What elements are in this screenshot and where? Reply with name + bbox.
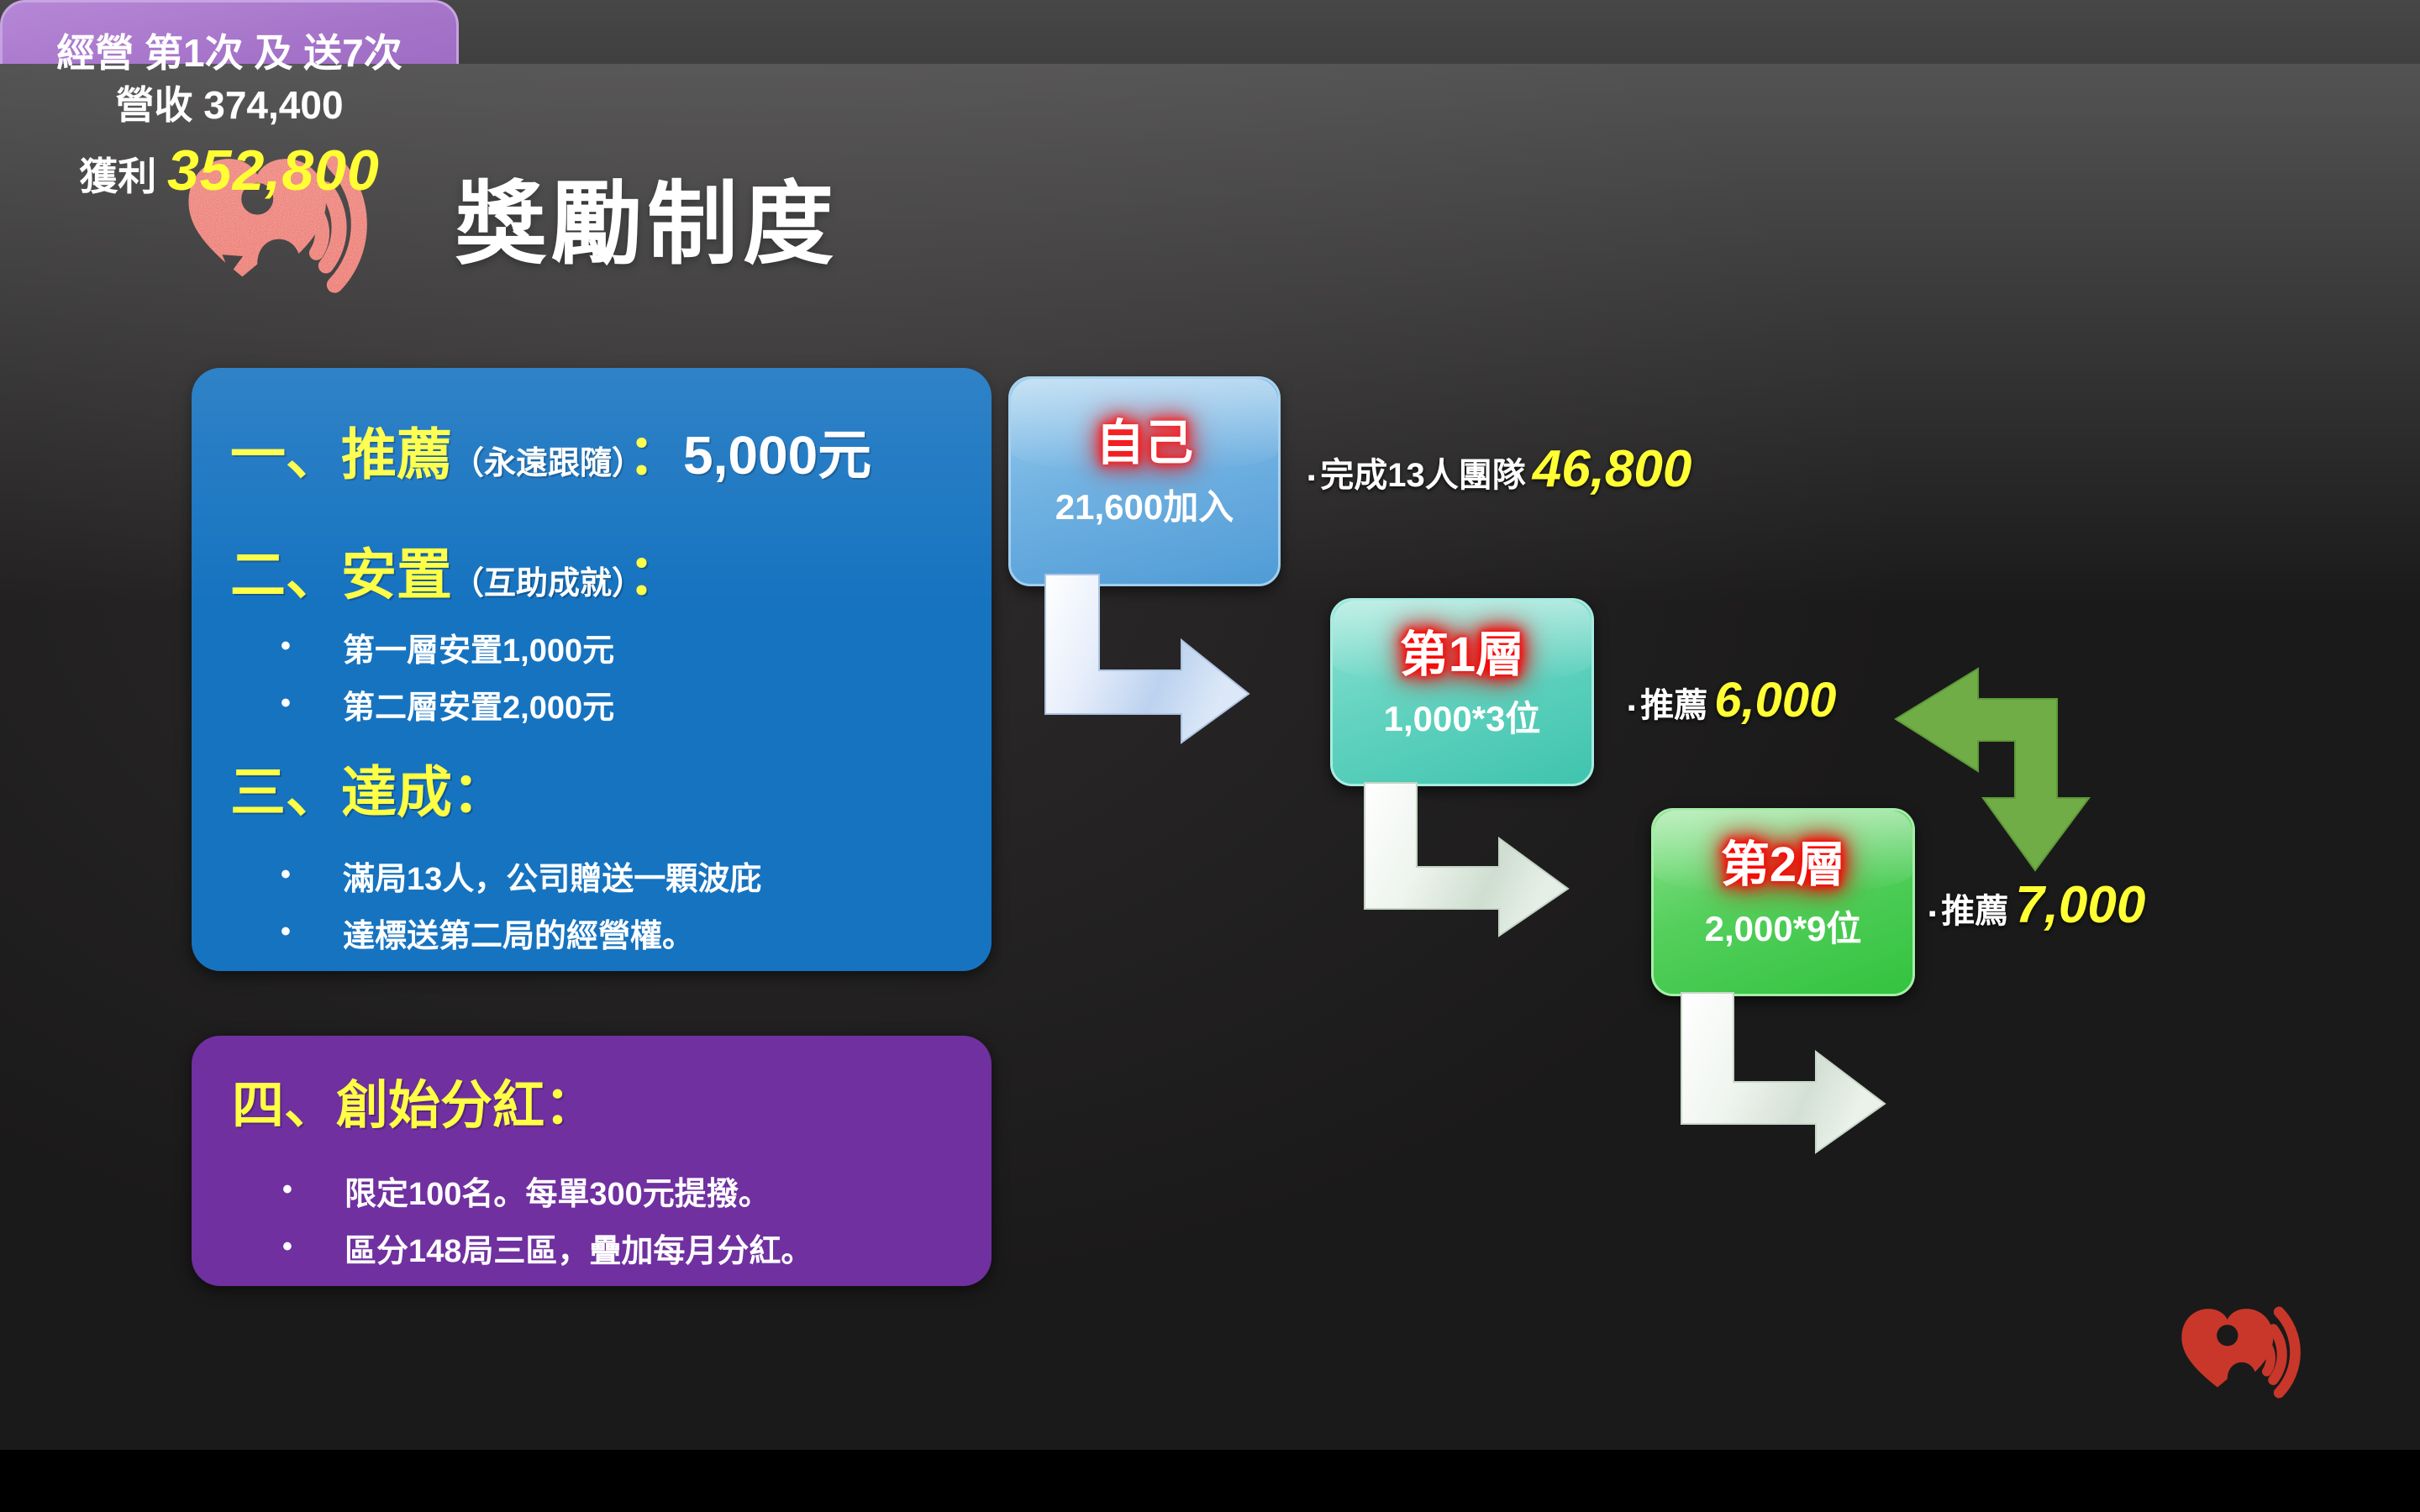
double-left-down-arrow-icon bbox=[1875, 664, 2128, 882]
list-item: 達標送第二局的經營權。 bbox=[281, 921, 761, 953]
result-line-3: 獲利 352,800 bbox=[3, 141, 456, 201]
result-profit-value: 352,800 bbox=[167, 139, 380, 202]
item-1-colon: ： bbox=[628, 423, 683, 486]
item-3-bullet-list: 滿局13人，公司贈送一顆波庇 達標送第二局的經營權。 bbox=[281, 864, 761, 978]
item-1-note: （永遠跟隨） bbox=[452, 446, 628, 481]
flow-box-self: 自己 21,600加入 bbox=[1008, 376, 1281, 586]
item-2-bullet-list: 第一層安置1,000元 第二層安置2,000元 bbox=[281, 635, 614, 749]
reward-item-4: 四、創始分紅： bbox=[232, 1063, 597, 1138]
corner-heart-wifi-logo-icon bbox=[2176, 1285, 2336, 1420]
rewards-blue-panel: 一、推薦（永遠跟隨）：5,000元 二、安置（互助成就）： 第一層安置1,000… bbox=[192, 368, 992, 971]
annotation-referral-1: ▪推薦6,000 bbox=[1628, 672, 1836, 728]
flow-box-level1-detail: 1,000*3位 bbox=[1333, 701, 1591, 737]
page-title: 獎勵制度 bbox=[455, 179, 839, 270]
item-3-key: 達成 bbox=[341, 761, 452, 823]
annotation-referral-2-label: 推薦 bbox=[1941, 893, 2008, 930]
flow-box-self-title: 自己 bbox=[1011, 419, 1278, 468]
result-line-1: 經營 第1次 及 送7次 bbox=[3, 33, 456, 73]
list-item: 區分148局三區，疊加每月分紅。 bbox=[282, 1236, 813, 1268]
bullet-dot-icon: ▪ bbox=[1928, 900, 1936, 926]
annotation-referral-1-value: 6,000 bbox=[1714, 673, 1836, 727]
item-1-amount: 5,000元 bbox=[683, 425, 871, 486]
annotation-team-value: 46,800 bbox=[1533, 440, 1692, 498]
flow-box-level2-title: 第2層 bbox=[1654, 841, 1912, 890]
list-item: 滿局13人，公司贈送一顆波庇 bbox=[281, 864, 761, 895]
item-2-number: 二、 bbox=[230, 543, 341, 606]
annotation-referral-2: ▪推薦7,000 bbox=[1928, 875, 2145, 935]
flow-box-level1: 第1層 1,000*3位 bbox=[1330, 598, 1594, 786]
item-4-key: 創始分紅 bbox=[336, 1077, 544, 1135]
rewards-purple-panel: 四、創始分紅： 限定100名。每單300元提撥。 區分148局三區，疊加每月分紅… bbox=[192, 1036, 992, 1286]
item-1-number: 一、 bbox=[230, 423, 341, 486]
elbow-down-right-arrow-icon bbox=[1676, 990, 1890, 1156]
list-item: 限定100名。每單300元提撥。 bbox=[282, 1179, 813, 1210]
flow-box-self-detail: 21,600加入 bbox=[1011, 490, 1278, 525]
item-4-number: 四、 bbox=[232, 1077, 336, 1135]
result-line-2: 營收 374,400 bbox=[3, 85, 456, 125]
bullet-dot-icon: ▪ bbox=[1307, 465, 1315, 490]
reward-item-1: 一、推薦（永遠跟隨）：5,000元 bbox=[230, 410, 871, 491]
flow-box-level2-detail: 2,000*9位 bbox=[1654, 911, 1912, 947]
reward-item-2: 二、安置（互助成就）： bbox=[230, 530, 683, 611]
annotation-team: ▪完成13人團隊46,800 bbox=[1307, 439, 1691, 499]
item-4-colon: ： bbox=[544, 1077, 597, 1135]
flow-box-level1-title: 第1層 bbox=[1333, 631, 1591, 680]
bullet-dot-icon: ▪ bbox=[1628, 695, 1635, 720]
reward-item-3: 三、達成： bbox=[230, 748, 508, 828]
elbow-down-right-arrow-icon bbox=[1360, 780, 1573, 939]
list-item: 第一層安置1,000元 bbox=[281, 635, 614, 667]
item-4-bullet-list: 限定100名。每單300元提撥。 區分148局三區，疊加每月分紅。 bbox=[282, 1179, 813, 1293]
annotation-referral-1-label: 推薦 bbox=[1640, 687, 1707, 724]
annotation-referral-2-value: 7,000 bbox=[2015, 876, 2145, 934]
item-2-key: 安置 bbox=[341, 543, 452, 606]
item-2-note: （互助成就） bbox=[452, 566, 628, 601]
elbow-down-right-arrow-icon bbox=[1040, 571, 1254, 748]
result-profit-label: 獲利 bbox=[79, 155, 156, 198]
item-1-key: 推薦 bbox=[341, 423, 452, 486]
annotation-team-label: 完成13人團隊 bbox=[1320, 457, 1526, 494]
slide-canvas: 獎勵制度 一、推薦（永遠跟隨）：5,000元 二、安置（互助成就）： 第一層安置… bbox=[0, 0, 2420, 1512]
list-item: 第二層安置2,000元 bbox=[281, 692, 614, 724]
item-2-colon: ： bbox=[628, 543, 683, 606]
item-3-number: 三、 bbox=[230, 761, 341, 823]
item-3-colon: ： bbox=[452, 761, 508, 823]
